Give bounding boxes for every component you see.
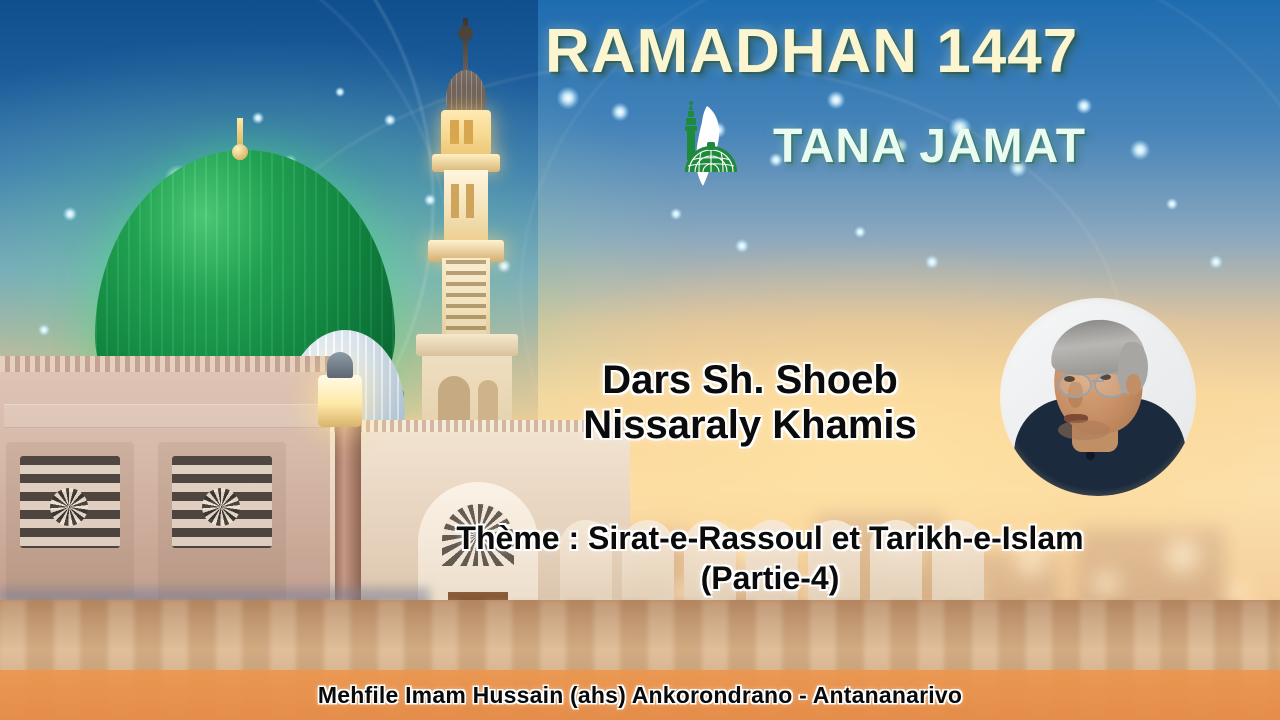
sparkle-icon	[384, 114, 396, 126]
sparkle-icon	[1209, 255, 1223, 269]
speaker-line-2: Nissaraly Khamis	[470, 403, 1030, 448]
sparkle-icon	[854, 226, 866, 238]
dome-finial-icon	[237, 118, 243, 160]
footer-text: Mehfile Imam Hussain (ahs) Ankorondrano …	[318, 682, 962, 709]
sparkle-icon	[670, 208, 682, 220]
sparkle-icon	[735, 239, 749, 253]
sparkle-icon	[335, 87, 345, 97]
sparkle-icon	[63, 207, 77, 221]
sparkle-icon	[38, 324, 50, 336]
footer-banner: Mehfile Imam Hussain (ahs) Ankorondrano …	[0, 670, 1280, 720]
crescent-mosque-globe-logo-icon	[655, 100, 755, 192]
speaker-portrait-avatar	[1000, 298, 1196, 496]
theme-line-2: (Partie-4)	[300, 558, 1240, 598]
slide-canvas: RAMADHAN 1447	[0, 0, 1280, 720]
sparkle-icon	[557, 87, 579, 109]
sparkle-icon	[252, 112, 264, 124]
speaker-line-1: Dars Sh. Shoeb	[470, 358, 1030, 403]
sparkle-icon	[611, 103, 629, 121]
theme-line-1: Thème : Sirat-e-Rassoul et Tarikh-e-Isla…	[300, 518, 1240, 558]
lamp-icon	[318, 375, 362, 427]
lamp-cap	[327, 352, 353, 378]
sparkle-icon	[1130, 140, 1150, 160]
sparkle-icon	[925, 255, 939, 269]
page-title: RAMADHAN 1447	[545, 16, 1245, 87]
sparkle-icon	[1166, 198, 1178, 210]
theme-text: Thème : Sirat-e-Rassoul et Tarikh-e-Isla…	[300, 518, 1240, 599]
speaker-title: Dars Sh. Shoeb Nissaraly Khamis	[470, 358, 1030, 448]
brand-row: TANA JAMAT	[655, 100, 1086, 192]
brand-name: TANA JAMAT	[773, 119, 1086, 174]
